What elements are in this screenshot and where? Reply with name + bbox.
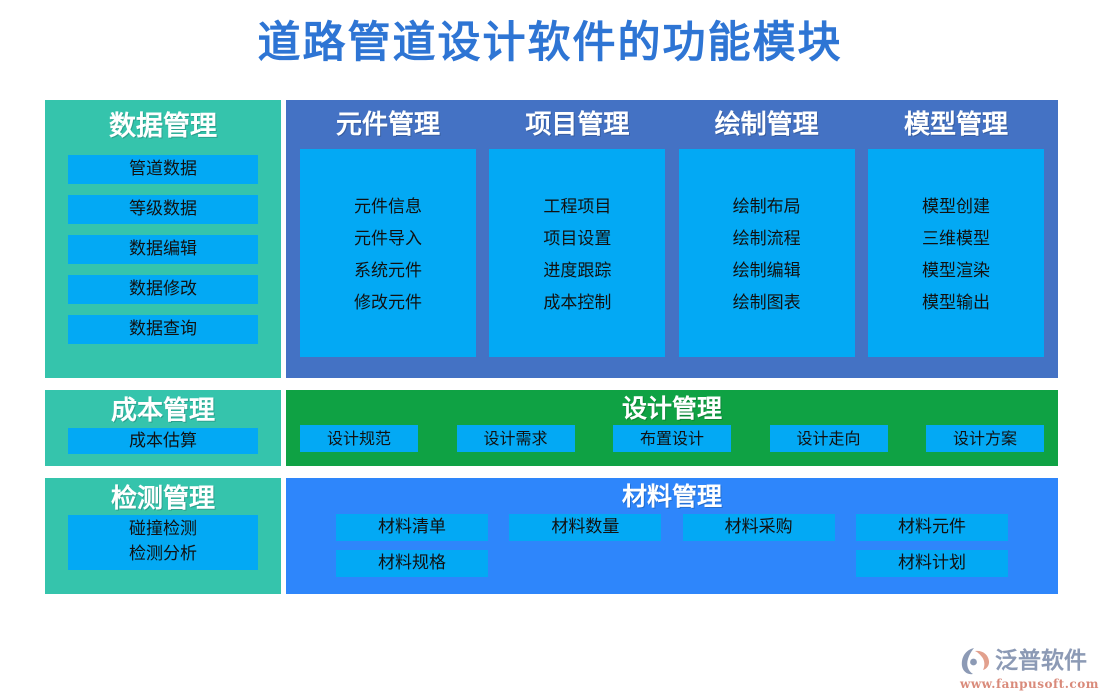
module-card-project-management: 工程项目 项目设置 进度跟踪 成本控制 xyxy=(489,149,665,357)
module-column-project-management: 项目管理 工程项目 项目设置 进度跟踪 成本控制 xyxy=(489,100,665,378)
module-column-drawing-management: 绘制管理 绘制布局 绘制流程 绘制编辑 绘制图表 xyxy=(679,100,855,378)
list-item[interactable]: 材料采购 xyxy=(683,514,835,541)
list-item[interactable]: 数据编辑 xyxy=(68,235,258,264)
list-item[interactable]: 修改元件 xyxy=(300,287,476,319)
list-item[interactable]: 设计需求 xyxy=(457,425,575,452)
list-item[interactable]: 材料元件 xyxy=(856,514,1008,541)
list-item[interactable]: 材料计划 xyxy=(856,550,1008,577)
list-item[interactable]: 设计规范 xyxy=(300,425,418,452)
panel-title-project-management: 项目管理 xyxy=(489,100,665,141)
panel-design-management: 设计管理 设计规范 设计需求 布置设计 设计走向 设计方案 xyxy=(286,390,1058,466)
panel-title-data-management: 数据管理 xyxy=(45,100,281,144)
list-item[interactable]: 系统元件 xyxy=(300,255,476,287)
page-title: 道路管道设计软件的功能模块 xyxy=(0,14,1100,72)
list-item[interactable]: 设计走向 xyxy=(770,425,888,452)
list-item[interactable]: 元件导入 xyxy=(300,223,476,255)
module-card-drawing-management: 绘制布局 绘制流程 绘制编辑 绘制图表 xyxy=(679,149,855,357)
brand-logo: 泛普软件 www.fanpusoft.com xyxy=(960,645,1090,693)
list-item[interactable]: 成本控制 xyxy=(489,287,665,319)
list-item[interactable]: 管道数据 xyxy=(68,155,258,184)
panel-data-management: 数据管理 管道数据 等级数据 数据编辑 数据修改 数据查询 xyxy=(45,100,281,378)
list-item[interactable]: 材料数量 xyxy=(509,514,661,541)
panel-title-model-management: 模型管理 xyxy=(868,100,1044,141)
list-item[interactable]: 绘制流程 xyxy=(679,223,855,255)
list-item[interactable]: 模型渲染 xyxy=(868,255,1044,287)
list-item[interactable]: 模型创建 xyxy=(868,191,1044,223)
design-management-item-list: 设计规范 设计需求 布置设计 设计走向 设计方案 xyxy=(286,425,1058,452)
brand-url: www.fanpusoft.com xyxy=(960,677,1090,691)
list-item[interactable]: 材料清单 xyxy=(336,514,488,541)
list-item[interactable]: 工程项目 xyxy=(489,191,665,223)
list-item[interactable]: 元件信息 xyxy=(300,191,476,223)
list-item[interactable]: 数据查询 xyxy=(68,315,258,344)
module-column-component-management: 元件管理 元件信息 元件导入 系统元件 修改元件 xyxy=(300,100,476,378)
panel-main-modules: 元件管理 元件信息 元件导入 系统元件 修改元件 项目管理 工程项目 项目设置 … xyxy=(286,100,1058,378)
list-item[interactable]: 项目设置 xyxy=(489,223,665,255)
panel-title-design-management: 设计管理 xyxy=(286,390,1058,424)
panel-title-component-management: 元件管理 xyxy=(300,100,476,141)
list-item[interactable]: 数据修改 xyxy=(68,275,258,304)
panel-title-material-management: 材料管理 xyxy=(286,478,1058,512)
list-item[interactable]: 三维模型 xyxy=(868,223,1044,255)
brand-name: 泛普软件 xyxy=(995,646,1087,676)
panel-inspection-management: 检测管理 碰撞检测 检测分析 xyxy=(45,478,281,594)
list-item[interactable]: 成本估算 xyxy=(68,428,258,454)
panel-title-drawing-management: 绘制管理 xyxy=(679,100,855,141)
list-item[interactable]: 绘制图表 xyxy=(679,287,855,319)
list-item[interactable]: 绘制编辑 xyxy=(679,255,855,287)
module-card-model-management: 模型创建 三维模型 模型渲染 模型输出 xyxy=(868,149,1044,357)
inspection-management-item-list: 碰撞检测 检测分析 xyxy=(68,515,258,570)
fanpu-logo-icon xyxy=(960,646,992,676)
list-item[interactable]: 绘制布局 xyxy=(679,191,855,223)
module-card-component-management: 元件信息 元件导入 系统元件 修改元件 xyxy=(300,149,476,357)
list-item[interactable]: 碰撞检测 xyxy=(68,517,258,542)
panel-cost-management: 成本管理 成本估算 xyxy=(45,390,281,466)
list-item[interactable]: 设计方案 xyxy=(926,425,1044,452)
data-management-item-list: 管道数据 等级数据 数据编辑 数据修改 数据查询 xyxy=(45,155,281,344)
list-item[interactable]: 材料规格 xyxy=(336,550,488,577)
list-item[interactable]: 检测分析 xyxy=(68,542,258,567)
panel-material-management: 材料管理 材料清单 材料数量 材料采购 材料元件 材料规格 材料计划 xyxy=(286,478,1058,594)
list-item[interactable]: 进度跟踪 xyxy=(489,255,665,287)
list-item[interactable]: 模型输出 xyxy=(868,287,1044,319)
brand-logo-row: 泛普软件 xyxy=(960,645,1090,677)
material-management-item-list: 材料清单 材料数量 材料采购 材料元件 材料规格 材料计划 xyxy=(286,514,1058,586)
list-item[interactable]: 布置设计 xyxy=(613,425,731,452)
panel-title-inspection-management: 检测管理 xyxy=(45,478,281,515)
module-column-model-management: 模型管理 模型创建 三维模型 模型渲染 模型输出 xyxy=(868,100,1044,378)
panel-title-cost-management: 成本管理 xyxy=(45,390,281,427)
list-item[interactable]: 等级数据 xyxy=(68,195,258,224)
